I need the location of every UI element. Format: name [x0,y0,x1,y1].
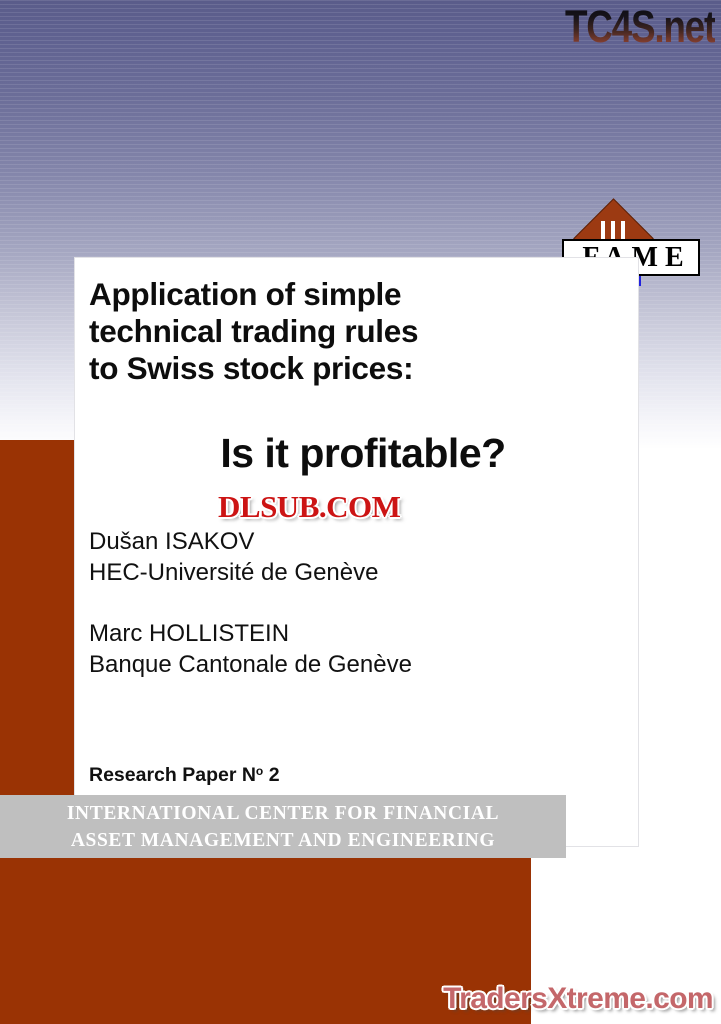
page-subtitle: Is it profitable? [89,430,637,476]
institution-line-1: INTERNATIONAL CENTER FOR FINANCIAL [0,800,566,827]
research-paper-ordinal-icon: o [256,764,263,778]
title-line-2: technical trading rules [89,313,629,350]
research-paper-number: Research Paper No 2 [89,764,280,787]
title-line-1: Application of simple [89,276,629,313]
author-entry: Marc HOLLISTEIN Banque Cantonale de Genè… [89,618,609,680]
author-name: Dušan ISAKOV [89,526,609,557]
author-name: Marc HOLLISTEIN [89,618,609,649]
content-panel: Application of simple technical trading … [75,258,638,846]
watermark-tradersxtreme: TradersXtreme.com [443,982,713,1016]
document-cover-page: TC4S.net FAME Application of simple tech… [0,0,721,1024]
institution-line-2: ASSET MANAGEMENT AND ENGINEERING [0,827,566,854]
author-affiliation: Banque Cantonale de Genève [89,649,609,680]
brown-left-column [0,440,75,798]
page-title: Application of simple technical trading … [89,276,629,387]
title-line-3: to Swiss stock prices: [89,350,629,387]
institution-banner: INTERNATIONAL CENTER FOR FINANCIAL ASSET… [0,795,566,858]
research-paper-value: 2 [269,764,280,786]
author-list: Dušan ISAKOV HEC-Université de Genève Ma… [89,526,609,710]
watermark-dlsub: DLSUB.COM [218,489,400,525]
watermark-tc4s: TC4S.net [565,2,715,52]
research-paper-label: Research Paper N [89,764,256,786]
author-entry: Dušan ISAKOV HEC-Université de Genève [89,526,609,588]
author-affiliation: HEC-Université de Genève [89,557,609,588]
